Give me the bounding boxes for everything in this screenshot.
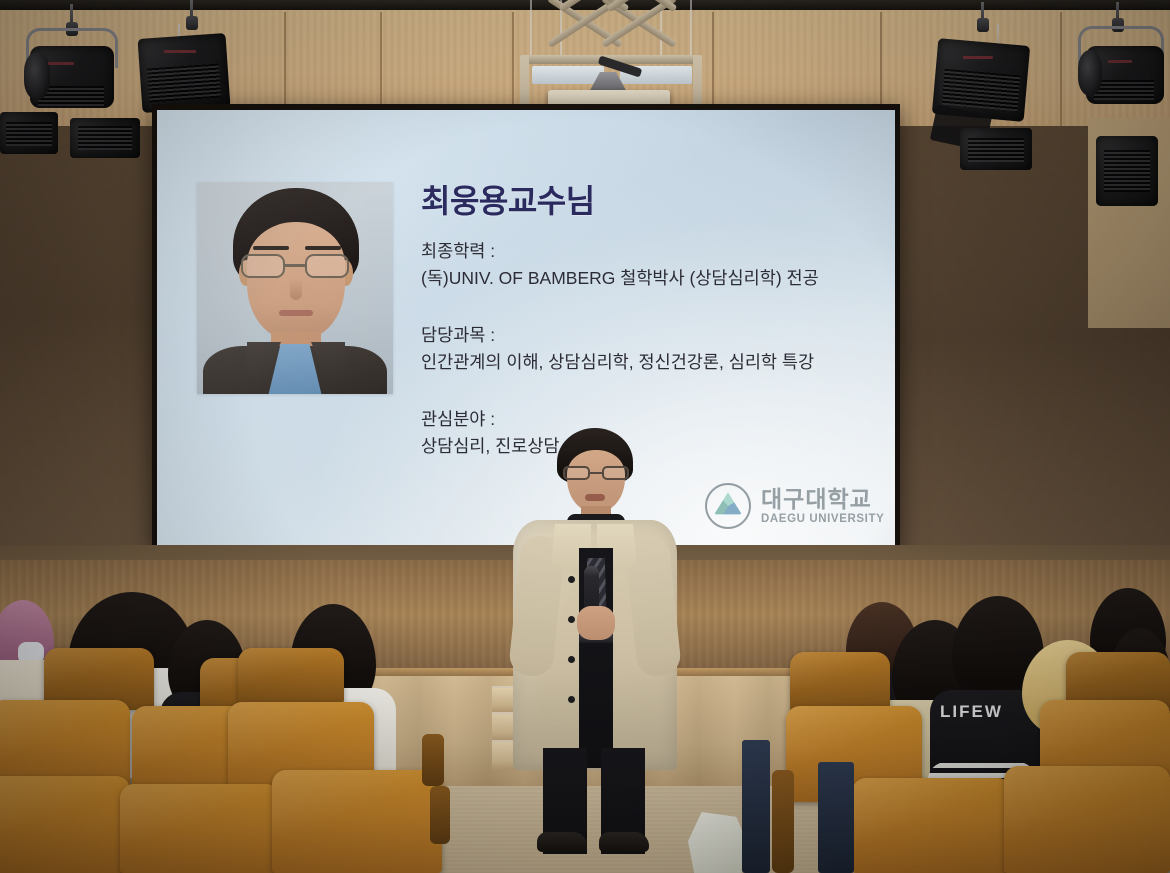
- seat-armrest: [430, 786, 450, 844]
- seat-support-post: [818, 762, 854, 873]
- auditorium-photo: 최웅용교수님 최종학력 : (독)UNIV. OF BAMBERG 철학박사 (…: [0, 0, 1170, 873]
- headshot-mouth: [279, 310, 313, 316]
- auditorium-seat: [852, 778, 1012, 873]
- auditorium-seat: [1004, 766, 1170, 873]
- coat-button: [568, 576, 575, 583]
- stage-light-fixture: [1096, 136, 1170, 218]
- logo-text-korean: 대구대학교: [761, 487, 884, 512]
- presenter-glasses-icon: [563, 466, 629, 481]
- seat-armrest: [772, 770, 794, 873]
- presenter: [505, 428, 685, 853]
- projector-light-strip: [532, 66, 604, 84]
- auditorium-seat: [790, 652, 890, 712]
- auditorium-seat: [238, 648, 344, 704]
- projector-scissor-lift: [520, 0, 700, 62]
- presenter-face: [567, 450, 625, 512]
- auditorium-seat: [272, 770, 442, 873]
- coat-button: [568, 696, 575, 703]
- stage-light-fixture: [1072, 12, 1170, 134]
- logo-text-english: DAEGU UNIVERSITY: [761, 512, 884, 526]
- coat-button: [568, 656, 575, 663]
- slide-block-courses: 담당과목 : 인간관계의 이해, 상담심리학, 정신건강론, 심리학 특강: [421, 322, 814, 376]
- stage-light-fixture: [70, 118, 150, 164]
- presenter-mouth: [585, 494, 605, 501]
- headshot-eyebrow: [253, 246, 289, 250]
- presenter-shoe: [537, 832, 587, 852]
- logo-text-group: 대구대학교 DAEGU UNIVERSITY: [761, 487, 884, 526]
- professor-headshot-photo: [197, 182, 393, 394]
- stage-light-fixture: [960, 128, 1042, 176]
- seat-armrest: [422, 734, 444, 786]
- headshot-glasses-icon: [241, 254, 351, 280]
- university-logo: 대구대학교 DAEGU UNIVERSITY: [705, 478, 895, 534]
- auditorium-seat: [120, 784, 280, 873]
- seat-support-post: [742, 740, 770, 873]
- stage-light-fixture: [925, 14, 1043, 142]
- slide-title: 최웅용교수님: [421, 176, 595, 222]
- jacket-brand-text: LIFEW: [940, 702, 1003, 722]
- left-side-wall: [0, 126, 175, 596]
- stage-light-fixture: [0, 112, 70, 160]
- presenter-hands: [577, 606, 615, 640]
- presenter-shoe: [599, 832, 649, 852]
- headshot-nose: [290, 278, 302, 300]
- slide-label: 최종학력 :: [421, 238, 819, 265]
- slide-value: 인간관계의 이해, 상담심리학, 정신건강론, 심리학 특강: [421, 349, 814, 376]
- slide-label: 담당과목 :: [421, 322, 814, 349]
- headshot-eyebrow: [305, 246, 341, 250]
- auditorium-seat: [0, 776, 130, 873]
- slide-block-education: 최종학력 : (독)UNIV. OF BAMBERG 철학박사 (상담심리학) …: [421, 238, 819, 292]
- wall-panel-seam: [1060, 12, 1062, 130]
- daegu-university-seal-icon: [705, 483, 751, 529]
- coat-button: [568, 616, 575, 623]
- slide-value: (독)UNIV. OF BAMBERG 철학박사 (상담심리학) 전공: [421, 265, 819, 292]
